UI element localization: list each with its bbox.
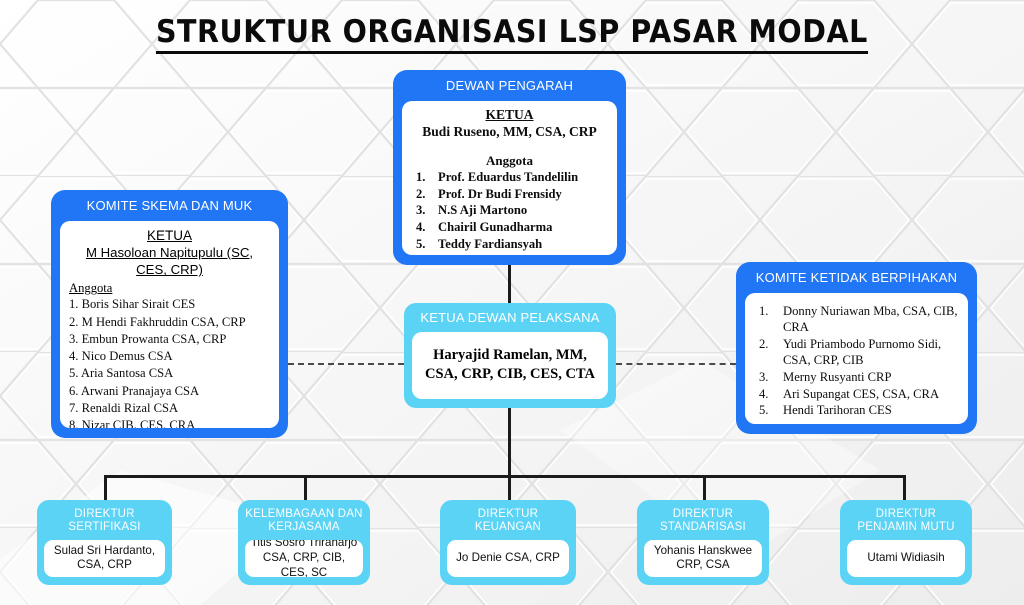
node-komite-skema-header: KOMITE SKEMA DAN MUK — [51, 190, 288, 221]
connector-drop-sertifikasi — [104, 475, 107, 501]
direktur-standarisasi-person: Yohanis Hanskwee CRP, CSA — [649, 544, 757, 574]
node-direktur-standarisasi-body: Yohanis Hanskwee CRP, CSA — [644, 540, 762, 577]
komite-skema-member-list: 1. Boris Sihar Sirait CES 2. M Hendi Fak… — [69, 296, 270, 428]
komite-skema-anggota-label: Anggota — [69, 281, 270, 296]
connector-dashed-left — [288, 363, 404, 365]
node-direktur-keuangan-body: Jo Denie CSA, CRP — [447, 540, 569, 577]
list-item-label: Chairil Gunadharma — [438, 219, 611, 236]
list-item-label: N.S Aji Martono — [438, 202, 611, 219]
list-item-label: Merny Rusyanti CRP — [783, 369, 960, 386]
list-item-number: 2. — [753, 336, 783, 353]
ketua-pelaksana-name: Haryajid Ramelan, MM, CSA, CRP, CIB, CES… — [420, 346, 600, 384]
node-dewan-pengarah[interactable]: DEWAN PENGARAH KETUA Budi Ruseno, MM, CS… — [393, 70, 626, 265]
list-item-number: 2. — [408, 186, 438, 203]
node-direktur-penjamin-mutu-body: Utami Widiasih — [847, 540, 965, 577]
dewan-pengarah-member-list: 1. Prof. Eduardus Tandelilin 2. Prof. Dr… — [408, 169, 611, 255]
list-item: 2. M Hendi Fakhruddin CSA, CRP — [69, 314, 270, 331]
list-item-number: 1. — [408, 169, 438, 186]
list-item: 3. Embun Prowanta CSA, CRP — [69, 331, 270, 348]
node-ketua-pelaksana-body: Haryajid Ramelan, MM, CSA, CRP, CIB, CES… — [412, 332, 608, 399]
komite-skema-ketua-name: M Hasoloan Napitupulu (SC, CES, CRP) — [69, 244, 270, 278]
page-title: STRUKTUR ORGANISASI LSP PASAR MODAL — [0, 14, 1024, 54]
list-item: 3. N.S Aji Martono — [408, 202, 611, 219]
node-dewan-pengarah-body: KETUA Budi Ruseno, MM, CSA, CRP Anggota … — [402, 101, 617, 255]
list-item-number: 6. — [408, 253, 438, 255]
list-item: 4. Ari Supangat CES, CSA, CRA — [753, 386, 960, 403]
list-item: 1. Donny Nuriawan Mba, CSA, CIB, CRA — [753, 303, 960, 336]
komite-ketidak-member-list: 1. Donny Nuriawan Mba, CSA, CIB, CRA 2. … — [753, 303, 960, 419]
node-direktur-keuangan[interactable]: DIREKTUR KEUANGAN Jo Denie CSA, CRP — [440, 500, 576, 585]
direktur-keuangan-person: Jo Denie CSA, CRP — [456, 551, 560, 566]
komite-skema-ketua-label: KETUA — [69, 227, 270, 245]
list-item-label: Teddy Fardiansyah — [438, 236, 611, 253]
list-item: 4. Chairil Gunadharma — [408, 219, 611, 236]
list-item-number: 4. — [753, 386, 783, 403]
list-item-label: Ari Supangat CES, CSA, CRA — [783, 386, 960, 403]
kelembagaan-person: Titis Sosro Triraharjo CSA, CRP, CIB, CE… — [250, 540, 358, 577]
node-direktur-sertifikasi[interactable]: DIREKTUR SERTIFIKASI Sulad Sri Hardanto,… — [37, 500, 172, 585]
direktur-sertifikasi-person: Sulad Sri Hardanto, CSA, CRP — [49, 544, 160, 574]
connector-drop-standarisasi — [703, 475, 706, 501]
node-komite-ketidak-header: KOMITE KETIDAK BERPIHAKAN — [736, 262, 977, 293]
node-kelembagaan-dan-kerjasama[interactable]: KELEMBAGAAN DAN KERJASAMA Titis Sosro Tr… — [238, 500, 370, 585]
list-item: 5. Hendi Tarihoran CES — [753, 402, 960, 419]
dewan-pengarah-anggota-label: Anggota — [408, 153, 611, 169]
connector-drop-keuangan — [508, 475, 511, 501]
list-item: 5. Aria Santosa CSA — [69, 365, 270, 382]
node-komite-ketidak-berpihakan[interactable]: KOMITE KETIDAK BERPIHAKAN 1. Donny Nuria… — [736, 262, 977, 434]
connector-dashed-right — [616, 363, 736, 365]
list-item-label: Hendi Tarihoran CES — [783, 402, 960, 419]
org-chart-canvas: STRUKTUR ORGANISASI LSP PASAR MODAL DEWA… — [0, 0, 1024, 605]
node-ketua-dewan-pelaksana[interactable]: KETUA DEWAN PELAKSANA Haryajid Ramelan, … — [404, 303, 616, 408]
list-item-number: 3. — [408, 202, 438, 219]
node-kelembagaan-header: KELEMBAGAAN DAN KERJASAMA — [238, 500, 370, 540]
list-item-number: 5. — [408, 236, 438, 253]
list-item: 1. Boris Sihar Sirait CES — [69, 296, 270, 313]
list-item: 6. Arwani Pranajaya CSA — [69, 383, 270, 400]
direktur-penjamin-mutu-person: Utami Widiasih — [867, 551, 944, 566]
list-item-number: 5. — [753, 402, 783, 419]
list-item: 2. Prof. Dr Budi Frensidy — [408, 186, 611, 203]
list-item-label: Prof. Eduardus Tandelilin — [438, 169, 611, 186]
list-item-number: 4. — [408, 219, 438, 236]
dewan-pengarah-ketua-name: Budi Ruseno, MM, CSA, CRP — [408, 123, 611, 141]
node-direktur-penjamin-mutu-header: DIREKTUR PENJAMIN MUTU — [840, 500, 972, 540]
list-item: 7. Renaldi Rizal CSA — [69, 400, 270, 417]
node-direktur-standarisasi[interactable]: DIREKTUR STANDARISASI Yohanis Hanskwee C… — [637, 500, 769, 585]
connector-pengarah-to-pelaksana — [508, 265, 511, 305]
list-item: 8. Nizar CIB, CES, CRA — [69, 417, 270, 428]
connector-drop-kelembagaan — [304, 475, 307, 501]
connector-pelaksana-to-bus — [508, 408, 511, 478]
list-item-number: 1. — [753, 303, 783, 320]
node-direktur-keuangan-header: DIREKTUR KEUANGAN — [440, 500, 576, 540]
node-dewan-pengarah-header: DEWAN PENGARAH — [393, 70, 626, 101]
list-item: 2. Yudi Priambodo Purnomo Sidi, CSA, CRP… — [753, 336, 960, 369]
connector-drop-penjamin — [903, 475, 906, 501]
list-item-label: Donny Nuriawan Mba, CSA, CIB, CRA — [783, 303, 960, 336]
node-kelembagaan-body: Titis Sosro Triraharjo CSA, CRP, CIB, CE… — [245, 540, 363, 577]
list-item: 5. Teddy Fardiansyah — [408, 236, 611, 253]
list-item: 4. Nico Demus CSA — [69, 348, 270, 365]
node-direktur-penjamin-mutu[interactable]: DIREKTUR PENJAMIN MUTU Utami Widiasih — [840, 500, 972, 585]
node-direktur-standarisasi-header: DIREKTUR STANDARISASI — [637, 500, 769, 540]
node-komite-ketidak-body: 1. Donny Nuriawan Mba, CSA, CIB, CRA 2. … — [745, 293, 968, 424]
node-komite-skema-dan-muk[interactable]: KOMITE SKEMA DAN MUK KETUA M Hasoloan Na… — [51, 190, 288, 438]
list-item: 3. Merny Rusyanti CRP — [753, 369, 960, 386]
list-item: 1. Prof. Eduardus Tandelilin — [408, 169, 611, 186]
list-item-label: Mochamad Ghufron — [438, 253, 611, 255]
node-ketua-pelaksana-header: KETUA DEWAN PELAKSANA — [404, 303, 616, 332]
list-item-label: Yudi Priambodo Purnomo Sidi, CSA, CRP, C… — [783, 336, 960, 369]
connector-director-bus — [104, 475, 905, 478]
list-item-number: 3. — [753, 369, 783, 386]
list-item: 6. Mochamad Ghufron — [408, 253, 611, 255]
node-komite-skema-body: KETUA M Hasoloan Napitupulu (SC, CES, CR… — [60, 221, 279, 428]
dewan-pengarah-ketua-label: KETUA — [408, 107, 611, 124]
page-title-text: STRUKTUR ORGANISASI LSP PASAR MODAL — [156, 14, 868, 54]
node-direktur-sertifikasi-header: DIREKTUR SERTIFIKASI — [37, 500, 172, 540]
node-direktur-sertifikasi-body: Sulad Sri Hardanto, CSA, CRP — [44, 540, 165, 577]
list-item-label: Prof. Dr Budi Frensidy — [438, 186, 611, 203]
